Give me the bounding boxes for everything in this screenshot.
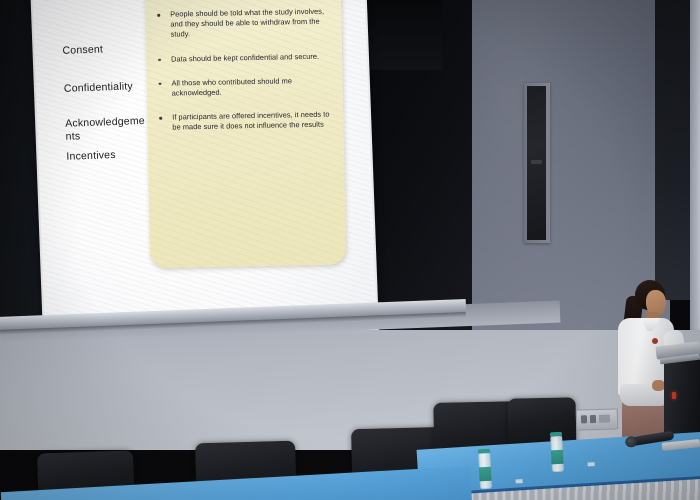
list-item: All those who contributed should me ackn…: [154, 75, 334, 99]
bottle-body: [550, 436, 564, 473]
slide-label-acknowledgements: Acknowledgeme nts: [65, 115, 142, 144]
list-item: People should be told what the study inv…: [153, 6, 334, 40]
bottle-label: [479, 467, 492, 482]
list-item: If participants are offered incentives, …: [155, 110, 335, 134]
slide-label-confidentiality: Confidentiality: [64, 80, 133, 96]
wall-recess-detail: [531, 160, 542, 164]
water-bottle: [478, 449, 492, 490]
conference-room-photo: Consent Confidentiality Acknowledgeme nt…: [0, 0, 700, 500]
slide-label-consent: Consent: [62, 43, 103, 57]
slide-content-card: Data collection People should be told wh…: [145, 0, 351, 270]
bullet-text: If participants are offered incentives, …: [172, 110, 335, 134]
bullet-text: Data should be kept confidential and sec…: [171, 51, 334, 64]
slide-bullet-list: People should be told what the study inv…: [153, 6, 336, 147]
slide-label-incentives: Incentives: [66, 149, 116, 164]
socket-outlet: [581, 415, 587, 423]
bottle-body: [478, 453, 492, 490]
socket-switch: [599, 415, 610, 423]
water-bottle: [550, 432, 564, 473]
bullet-text: People should be told what the study inv…: [170, 6, 334, 40]
presenter-badge: [652, 338, 658, 344]
socket-outlet: [590, 415, 596, 423]
bottle-neck: [588, 462, 595, 466]
wall-lower-section: [0, 330, 700, 450]
podium-indicator-led: [672, 392, 676, 399]
bullet-text: All those who contributed should me ackn…: [171, 75, 334, 99]
list-item: Data should be kept confidential and sec…: [154, 51, 334, 65]
bottle-neck: [516, 479, 523, 483]
bottle-label: [551, 450, 564, 465]
